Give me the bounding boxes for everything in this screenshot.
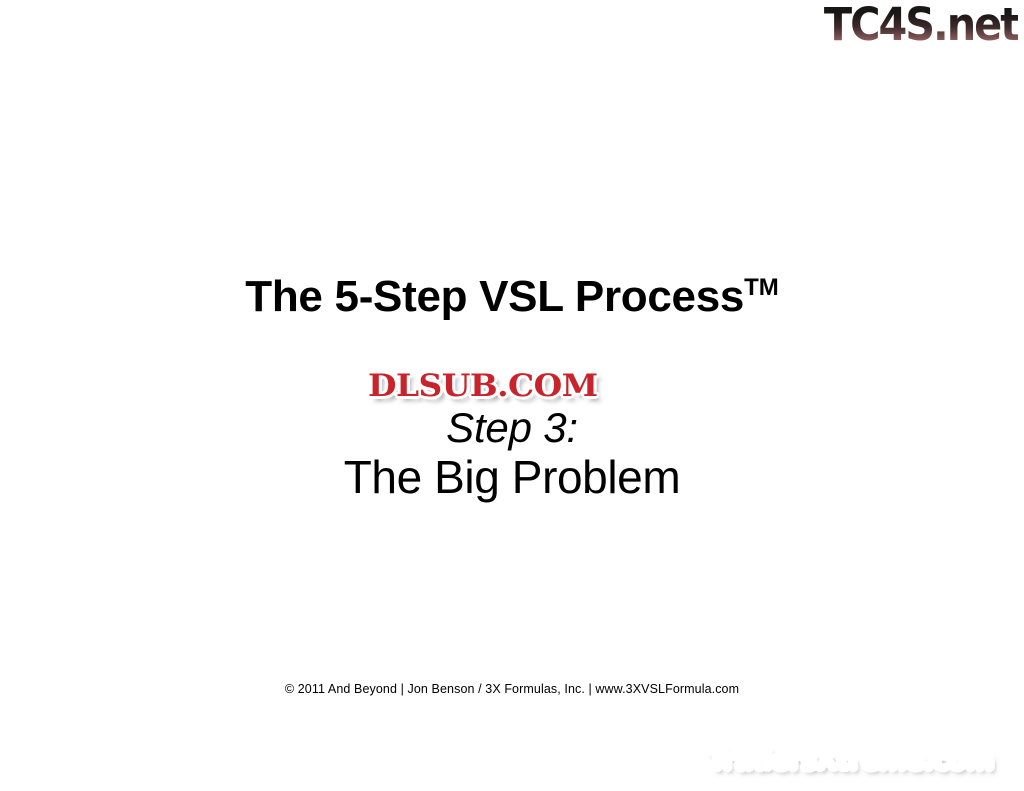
watermark-tc4s-net: TC4S.net <box>824 2 1018 47</box>
slide-subtitle-block: Step 3: The Big Problem <box>0 405 1024 506</box>
watermark-tradersxtreme-com: TradersXtreme.com <box>708 747 993 774</box>
trademark-symbol: TM <box>744 274 779 301</box>
watermark-dlsub-com: DLSUB.COM <box>368 371 598 402</box>
presentation-slide: TC4S.net The 5-Step VSL ProcessTM DLSUB.… <box>0 0 1024 791</box>
step-heading: The Big Problem <box>0 450 1024 505</box>
slide-title: The 5-Step VSL ProcessTM <box>0 275 1024 319</box>
watermark-tradersxtreme-text: TradersXtreme.com <box>708 745 993 776</box>
step-label: Step 3: <box>0 405 1024 450</box>
footer-copyright: © 2011 And Beyond | Jon Benson / 3X Form… <box>0 682 1024 696</box>
slide-title-text: The 5-Step VSL Process <box>245 272 744 321</box>
